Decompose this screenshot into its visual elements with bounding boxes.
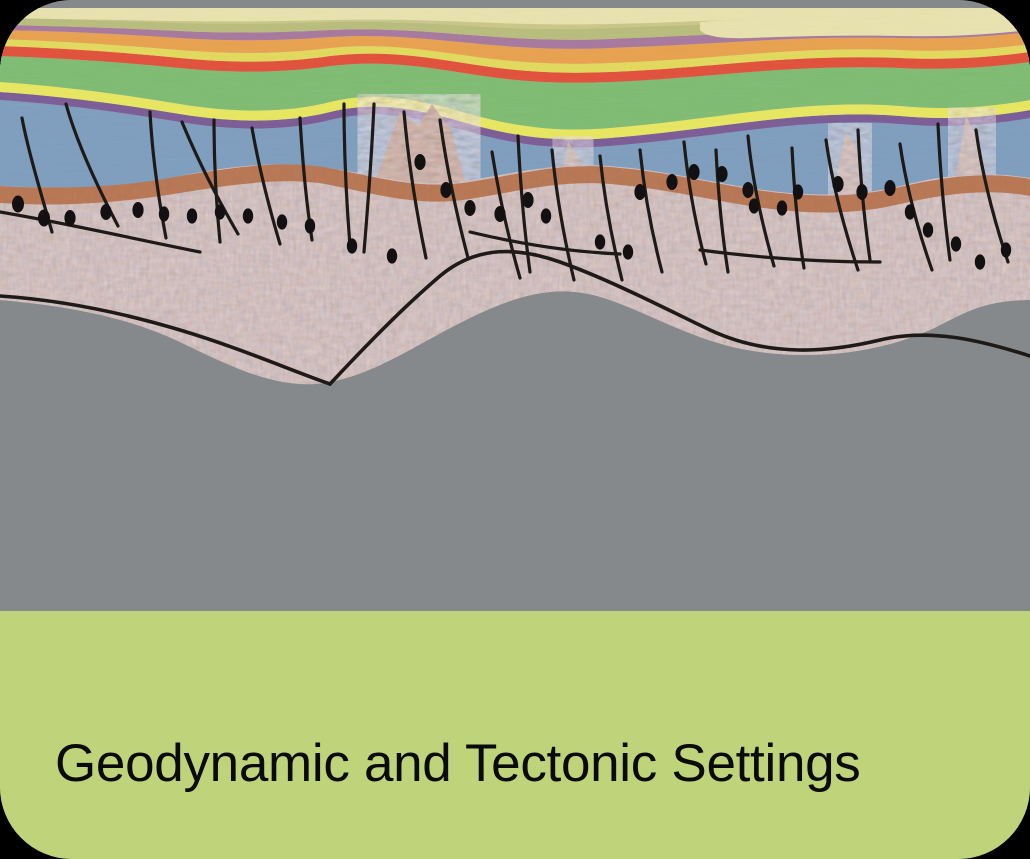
figure-card: Geodynamic and Tectonic Settings — [0, 0, 1030, 859]
cross-section-svg — [0, 0, 1030, 420]
figure-region — [0, 0, 1030, 611]
geological-cross-section — [0, 0, 1030, 420]
caption-title: Geodynamic and Tectonic Settings — [0, 736, 861, 792]
caption-band: Geodynamic and Tectonic Settings — [0, 611, 1030, 859]
